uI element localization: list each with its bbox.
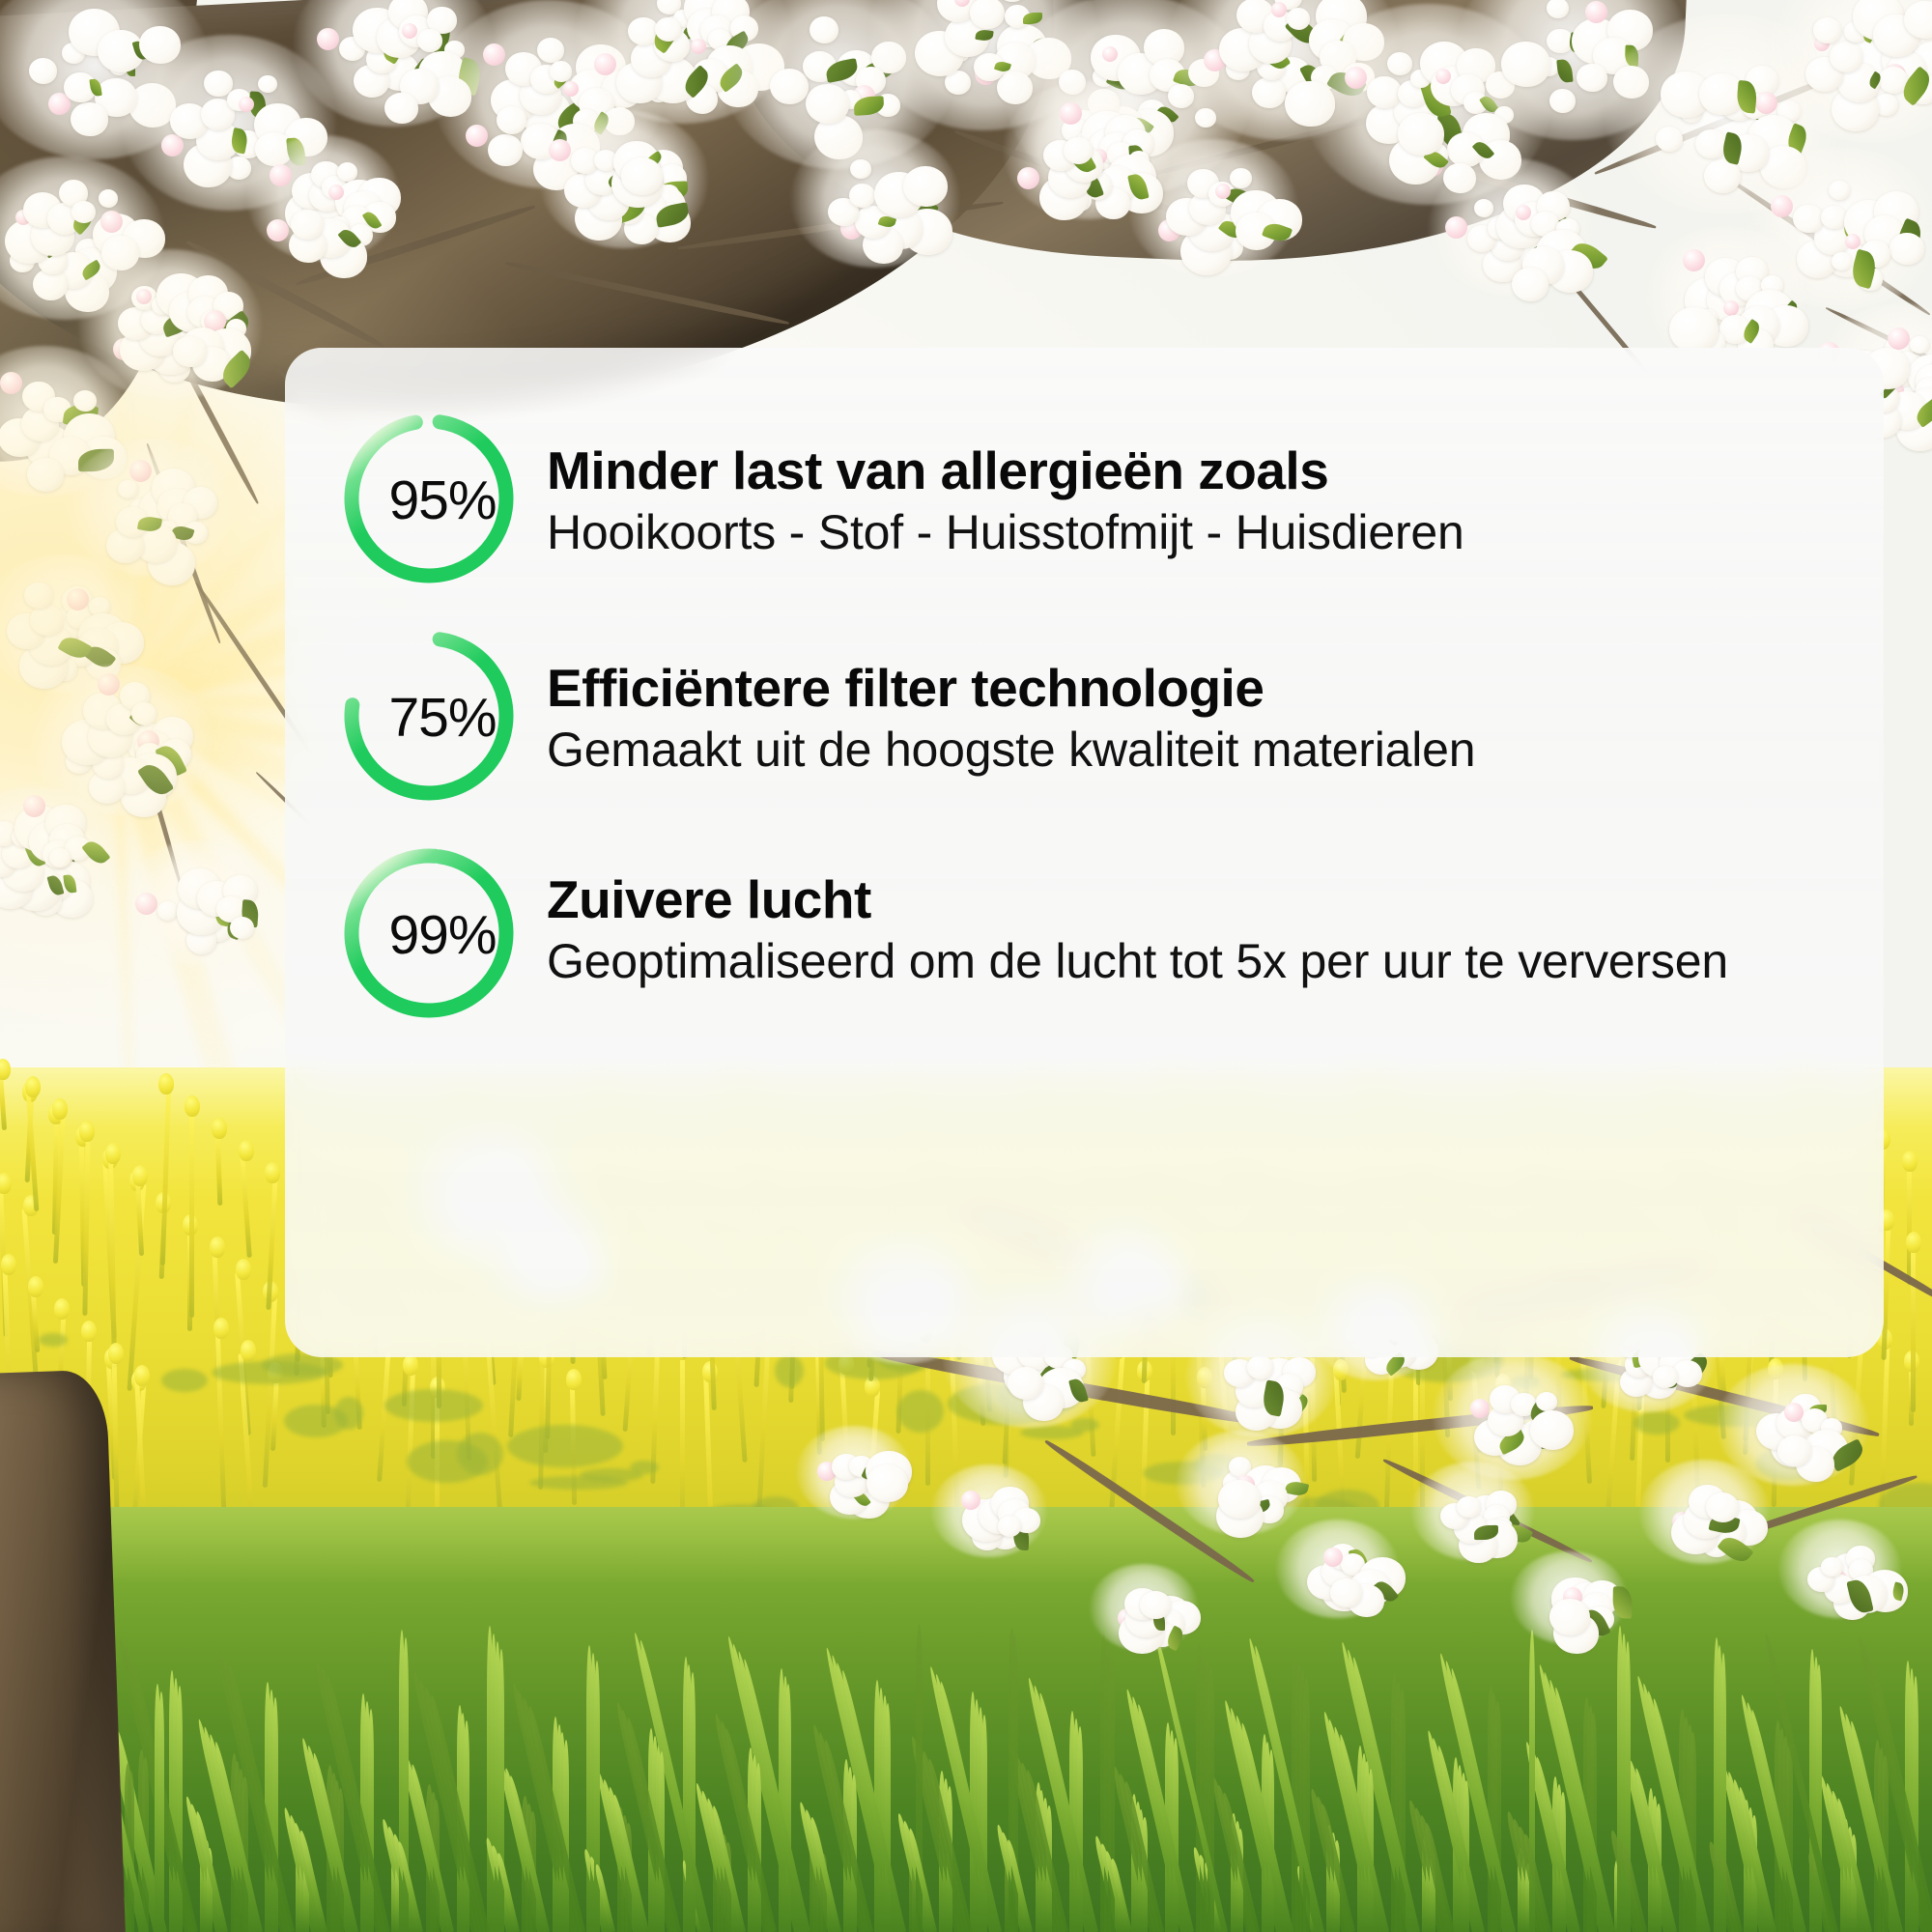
rapeseed-bud [108, 1343, 124, 1364]
rapeseed-bud [105, 1143, 121, 1164]
blossom [497, 106, 526, 134]
rapeseed-bud [212, 1118, 227, 1139]
grass-blade [368, 1709, 374, 1932]
blossom [1793, 205, 1824, 233]
rapeseed-bud [134, 1365, 150, 1386]
grass-blade [981, 1715, 987, 1932]
rapeseed-bud [28, 1276, 43, 1297]
blossom [29, 58, 57, 84]
blossom [1287, 8, 1310, 29]
blossom [71, 201, 96, 223]
blossom [850, 159, 871, 179]
blossom [1501, 42, 1550, 87]
rapeseed-bud [52, 1098, 68, 1120]
pink-bud [594, 53, 616, 75]
blossom [550, 61, 572, 81]
rapeseed-bud [79, 1121, 95, 1142]
pink-bud [1723, 300, 1739, 316]
pink-bud [328, 185, 344, 200]
rapeseed-bud [25, 1076, 41, 1097]
feature-text: Minder last van allergieën zoalsHooikoor… [547, 408, 1832, 562]
blossom [30, 605, 64, 636]
feature-subtitle: Gemaakt uit de hoogste kwaliteit materia… [547, 720, 1832, 780]
blossom [1704, 159, 1741, 193]
pink-bud [1470, 1399, 1490, 1418]
grass-blade [272, 1697, 278, 1932]
feature-text: Zuivere luchtGeoptimaliseerd om de lucht… [547, 842, 1832, 991]
pink-bud [1585, 1, 1607, 23]
field-green-patch [775, 1354, 804, 1387]
blossom [998, 1516, 1021, 1537]
blossom [806, 84, 849, 124]
percent-label: 75% [352, 627, 533, 809]
field-green-patch [384, 1389, 483, 1422]
blossom [1549, 89, 1576, 113]
pink-bud [98, 673, 120, 696]
blossom [1656, 127, 1683, 152]
blossom [1821, 1557, 1843, 1577]
grass-blade [1786, 1744, 1793, 1932]
blossom [903, 166, 948, 207]
rapeseed-bud [1902, 1151, 1918, 1172]
grass-blade [1399, 1690, 1406, 1932]
blossom [1512, 268, 1548, 301]
blossom [1530, 1410, 1574, 1450]
grass-blade [1690, 1732, 1696, 1932]
blossom [1064, 137, 1093, 164]
blossom [1252, 77, 1286, 108]
blossom [488, 134, 523, 166]
grass-foreground [0, 1507, 1932, 1932]
blossom [1577, 64, 1607, 92]
blossom [1247, 1355, 1273, 1378]
rapeseed-bud [213, 1318, 229, 1339]
grass-blade [1494, 1701, 1501, 1932]
pink-bud [961, 1491, 980, 1510]
grass-blade [1173, 1738, 1179, 1932]
pink-bud [1845, 234, 1861, 249]
blossom [1830, 42, 1862, 71]
blossom [291, 210, 324, 240]
blossom [1653, 1366, 1678, 1388]
pink-bud [135, 893, 157, 915]
pink-bud [549, 139, 571, 161]
field-green-patch [1070, 1418, 1099, 1432]
pink-bud [402, 23, 417, 39]
blossom [1536, 1392, 1557, 1411]
grass-blade [594, 1661, 600, 1932]
feature-subtitle: Hooikoorts - Stof - Huisstofmijt - Huisd… [547, 502, 1832, 562]
grass-blade [1913, 1676, 1918, 1932]
feature-text: Efficiëntere filter technologieGemaakt u… [547, 625, 1832, 780]
pink-bud [483, 43, 505, 66]
foreground-trunk [0, 1370, 126, 1932]
blossom [230, 917, 254, 939]
rapeseed-bud [236, 1259, 251, 1280]
blossom [118, 480, 138, 498]
rapeseed-bud [265, 1162, 280, 1183]
blossom [621, 157, 663, 196]
field-green-patch [630, 1461, 659, 1474]
rapeseed-bud [1, 1254, 16, 1275]
blossom [71, 102, 108, 137]
field-green-patch [334, 1397, 363, 1430]
blossom [849, 184, 875, 208]
blossom [1230, 168, 1252, 188]
rapeseed-stalk [189, 1109, 194, 1318]
progress-ring: 99% [338, 842, 520, 1024]
grass-blade [690, 1672, 696, 1932]
pink-bud [239, 97, 254, 112]
feature-row: 75%Efficiëntere filter technologieGemaak… [338, 625, 1832, 807]
rapeseed-bud [241, 1340, 256, 1361]
field-green-patch [1634, 1411, 1680, 1435]
blossom [1695, 129, 1727, 158]
rapeseed-bud [210, 1236, 225, 1258]
grass-blade [1590, 1713, 1597, 1932]
progress-ring: 95% [338, 408, 520, 589]
blossom [49, 848, 71, 867]
feature-headline: Minder last van allergieën zoals [547, 442, 1832, 498]
blossom [337, 162, 357, 181]
feature-list: 95%Minder last van allergieën zoalsHooik… [285, 348, 1884, 1357]
progress-ring: 75% [338, 625, 520, 807]
blossom [770, 69, 809, 104]
blossom [810, 16, 838, 43]
pink-bud [1271, 2, 1287, 17]
pink-bud [1445, 216, 1467, 239]
blossom [1008, 1367, 1043, 1399]
blossom [1706, 1492, 1739, 1522]
rapeseed-bud [158, 1073, 174, 1094]
pink-bud [267, 219, 289, 241]
screenshot-root: 95%Minder last van allergieën zoalsHooik… [0, 0, 1932, 1932]
rapeseed-bud [81, 1321, 97, 1342]
blossom [1457, 1496, 1481, 1519]
pink-bud [1017, 167, 1039, 189]
grass-blade [885, 1703, 891, 1932]
grass-blade [563, 1740, 569, 1932]
feature-subtitle: Geoptimaliseerd om de lucht tot 5x per u… [547, 931, 1735, 991]
pink-bud [691, 39, 706, 54]
blossom [1474, 199, 1493, 216]
feature-card: 95%Minder last van allergieën zoalsHooik… [285, 348, 1884, 1357]
rapeseed-bud [403, 1354, 418, 1376]
blossom [258, 75, 277, 93]
blossom [24, 582, 53, 610]
blossom [1669, 307, 1719, 353]
feature-headline: Zuivere lucht [547, 871, 1832, 927]
blossom [1387, 52, 1412, 75]
rapeseed-bud [185, 1095, 200, 1117]
blossom [1829, 181, 1850, 200]
blossom [867, 1464, 908, 1502]
grass-blade [1303, 1678, 1310, 1932]
blossom [173, 336, 207, 367]
rapeseed-bud [132, 1165, 148, 1186]
blossom [131, 702, 156, 725]
percent-label: 99% [352, 844, 533, 1026]
feature-row: 99%Zuivere luchtGeoptimaliseerd om de lu… [338, 842, 1832, 1024]
percent-label: 95% [352, 410, 533, 591]
rapeseed-bud [1906, 1232, 1921, 1253]
blossom [417, 29, 442, 52]
pink-bud [270, 164, 292, 186]
blossom [1330, 1578, 1362, 1607]
pink-bud [1888, 327, 1910, 350]
rapeseed-bud [54, 1298, 70, 1320]
blossom [1549, 1599, 1590, 1635]
blossom [1398, 113, 1444, 156]
pink-bud [161, 134, 184, 156]
field-green-patch [897, 1390, 944, 1433]
blossom [73, 390, 97, 412]
rapeseed-bud [239, 1140, 254, 1161]
pink-bud [100, 211, 123, 233]
blossom [157, 901, 178, 920]
rapeseed-bud [566, 1369, 582, 1390]
blossom [1777, 1435, 1811, 1466]
pink-bud [1435, 69, 1451, 84]
grass-blade [1077, 1726, 1083, 1932]
blossom [1218, 1480, 1261, 1519]
blossom [1889, 233, 1924, 265]
grass-blade [158, 1691, 164, 1932]
rapeseed-stalk [1911, 1245, 1916, 1412]
blossom [1547, 0, 1569, 18]
grass-blade [177, 1686, 183, 1932]
pink-bud [1683, 249, 1705, 271]
pink-bud [1215, 184, 1231, 199]
blossom [1813, 17, 1841, 43]
grass-blade [785, 1684, 791, 1932]
feature-row: 95%Minder last van allergieën zoalsHooik… [338, 408, 1832, 589]
feature-headline: Efficiëntere filter technologie [547, 660, 1832, 716]
blossom [27, 458, 64, 492]
field-green-patch [161, 1369, 208, 1392]
field-green-patch [39, 1333, 68, 1347]
blossom [99, 189, 118, 207]
field-green-patch [457, 1433, 503, 1475]
blossom [655, 17, 681, 42]
field-green-patch [507, 1425, 623, 1467]
blossom [384, 93, 418, 124]
blossom [1140, 1591, 1171, 1619]
